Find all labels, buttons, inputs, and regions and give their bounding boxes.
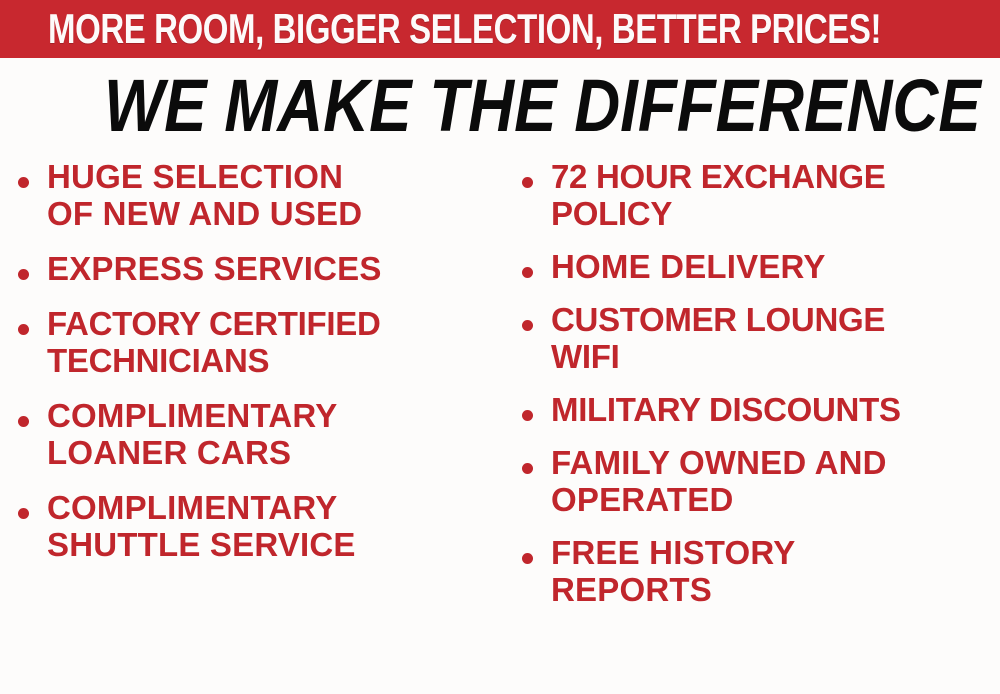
list-item: CUSTOMER LOUNGE WIFI <box>522 301 1000 375</box>
list-item: HUGE SELECTION OF NEW AND USED <box>18 158 498 232</box>
promo-banner: MORE ROOM, BIGGER SELECTION, BETTER PRIC… <box>0 0 1000 58</box>
list-item: FACTORY CERTIFIED TECHNICIANS <box>18 305 498 379</box>
promo-banner-text: MORE ROOM, BIGGER SELECTION, BETTER PRIC… <box>48 7 759 51</box>
list-item: FAMILY OWNED AND OPERATED <box>522 444 1000 518</box>
bullet-dot-icon <box>522 267 533 278</box>
bullet-dot-icon <box>18 324 29 335</box>
list-item-label: FREE HISTORY REPORTS <box>533 534 1000 608</box>
page-title: WE MAKE THE DIFFERENCE <box>104 67 964 145</box>
bullet-dot-icon <box>18 177 29 188</box>
bullet-dot-icon <box>18 508 29 519</box>
list-item-label: MILITARY DISCOUNTS <box>533 391 1000 428</box>
bullet-dot-icon <box>18 416 29 427</box>
list-item: FREE HISTORY REPORTS <box>522 534 1000 608</box>
list-item: COMPLIMENTARY SHUTTLE SERVICE <box>18 489 498 563</box>
list-item-label: HUGE SELECTION OF NEW AND USED <box>29 158 498 232</box>
bullet-dot-icon <box>522 553 533 564</box>
list-item-label: FACTORY CERTIFIED TECHNICIANS <box>29 305 498 379</box>
bullet-dot-icon <box>522 320 533 331</box>
bullet-dot-icon <box>522 463 533 474</box>
list-item: EXPRESS SERVICES <box>18 250 498 287</box>
bullet-dot-icon <box>522 177 533 188</box>
list-item: COMPLIMENTARY LOANER CARS <box>18 397 498 471</box>
features-columns: HUGE SELECTION OF NEW AND USED EXPRESS S… <box>0 158 1000 694</box>
list-item-label: HOME DELIVERY <box>533 248 1000 285</box>
list-item-label: CUSTOMER LOUNGE WIFI <box>533 301 1000 375</box>
list-item: HOME DELIVERY <box>522 248 1000 285</box>
features-column-left: HUGE SELECTION OF NEW AND USED EXPRESS S… <box>18 158 498 581</box>
list-item-label: COMPLIMENTARY SHUTTLE SERVICE <box>29 489 498 563</box>
list-item-label: 72 HOUR EXCHANGE POLICY <box>533 158 1000 232</box>
bullet-dot-icon <box>18 269 29 280</box>
list-item-label: EXPRESS SERVICES <box>29 250 498 287</box>
list-item-label: COMPLIMENTARY LOANER CARS <box>29 397 498 471</box>
list-item: MILITARY DISCOUNTS <box>522 391 1000 428</box>
bullet-dot-icon <box>522 410 533 421</box>
list-item-label: FAMILY OWNED AND OPERATED <box>533 444 1000 518</box>
features-column-right: 72 HOUR EXCHANGE POLICY HOME DELIVERY CU… <box>522 158 1000 624</box>
list-item: 72 HOUR EXCHANGE POLICY <box>522 158 1000 232</box>
